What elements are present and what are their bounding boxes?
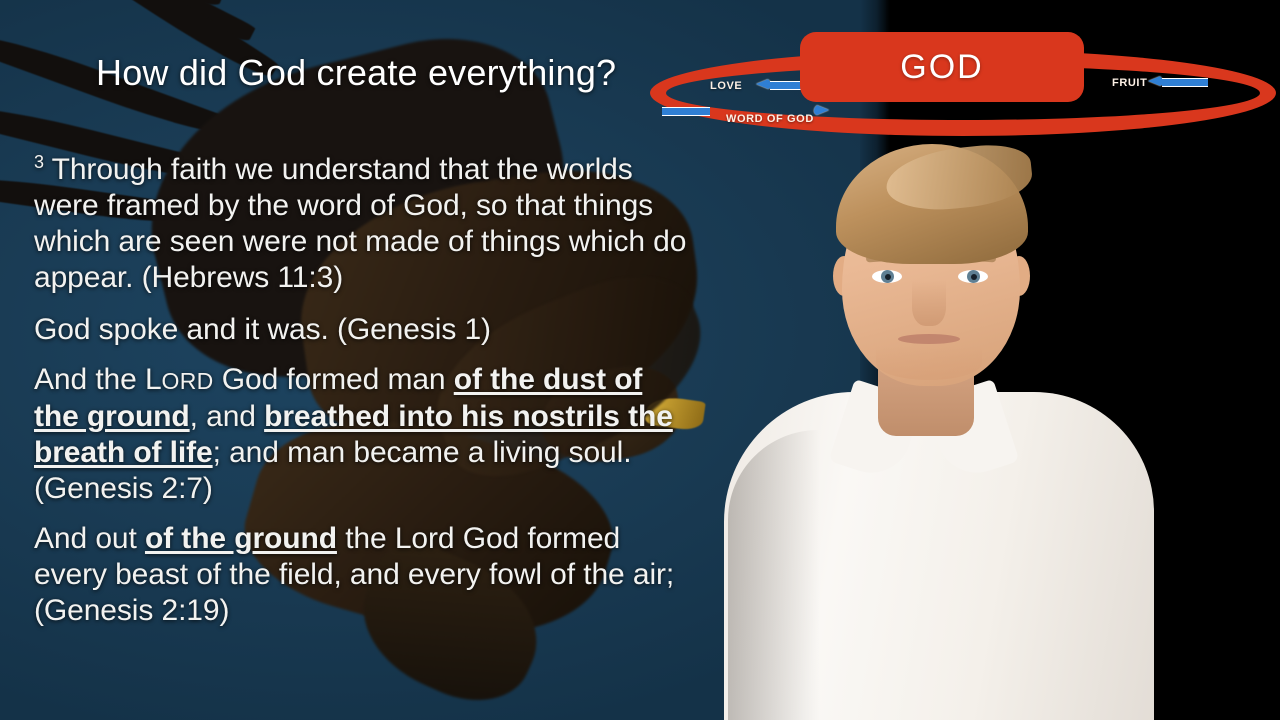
diagram-center-label: GOD: [900, 48, 983, 87]
scripture-text-column: 3 Through faith we understand that the w…: [34, 152, 694, 643]
diagram-center-box: GOD: [800, 32, 1084, 102]
scripture-paragraph-hebrews: 3 Through faith we understand that the w…: [34, 152, 694, 296]
scripture-paragraph-genesis219: And out of the ground the Lord God forme…: [34, 521, 694, 629]
presenter-eye-right: [958, 270, 988, 283]
scripture-paragraph-genesis1: God spoke and it was. (Genesis 1): [34, 312, 694, 348]
verse-segment: God formed man: [214, 363, 454, 396]
god-cycle-diagram: LOVE WORD OF GOD FRUIT GOD: [636, 20, 1280, 145]
diagram-node-word-of-god: WORD OF GOD: [726, 113, 814, 125]
diagram-node-fruit: FRUIT: [1112, 77, 1147, 89]
verse-text: Through faith we understand that the wor…: [34, 153, 686, 294]
emphasis-of-the-ground: of the ground: [145, 522, 337, 555]
lord-smallcaps: ORD: [162, 368, 214, 394]
presenter-nose: [912, 280, 946, 326]
diagram-node-love: LOVE: [710, 80, 742, 92]
scripture-paragraph-genesis27: And the LORD God formed man of the dust …: [34, 362, 694, 507]
presenter-eye-left: [872, 270, 902, 283]
presenter-mouth: [898, 334, 960, 344]
arrow-right-icon: [662, 104, 724, 116]
verse-segment: , and: [190, 400, 264, 433]
presenter-overlay: [690, 130, 1210, 720]
verse-segment: And out: [34, 522, 145, 555]
lord-capital: L: [145, 363, 162, 396]
slide-title: How did God create everything?: [96, 52, 616, 94]
verse-segment: And the: [34, 363, 145, 396]
verse-text: God spoke and it was. (Genesis 1): [34, 313, 491, 346]
presenter-chin: [876, 346, 982, 380]
presentation-slide: How did God create everything? 3 Through…: [0, 0, 1280, 720]
arrow-left-icon: [1148, 75, 1208, 87]
shirt-shadow: [728, 430, 820, 720]
verse-number: 3: [34, 152, 44, 172]
